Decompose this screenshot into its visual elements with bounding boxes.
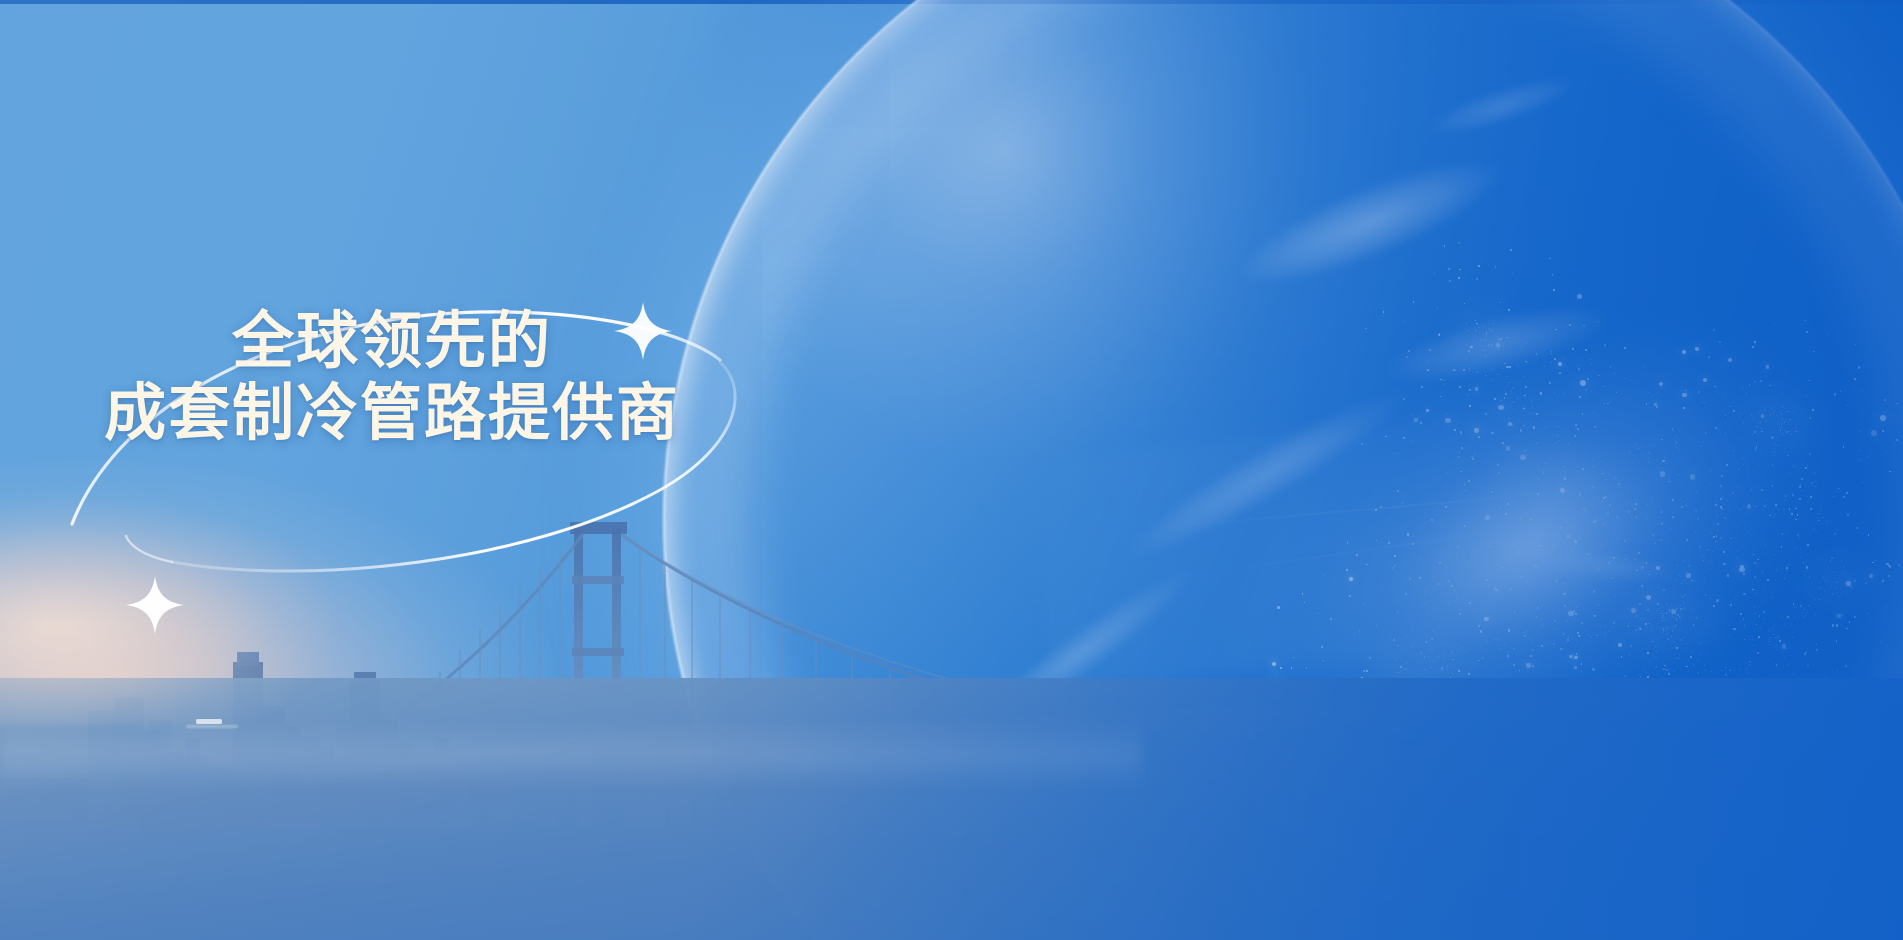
sea-shimmer [0,720,1142,790]
top-edge-strip [0,0,1903,4]
headline-line-1: 全球领先的 [232,306,804,378]
headline-block: 全球领先的 成套制冷管路提供商 [104,306,804,450]
boat-wake [186,725,238,728]
hero-banner: 全球领先的 成套制冷管路提供商 [0,0,1903,940]
headline-line-2: 成套制冷管路提供商 [104,378,804,450]
